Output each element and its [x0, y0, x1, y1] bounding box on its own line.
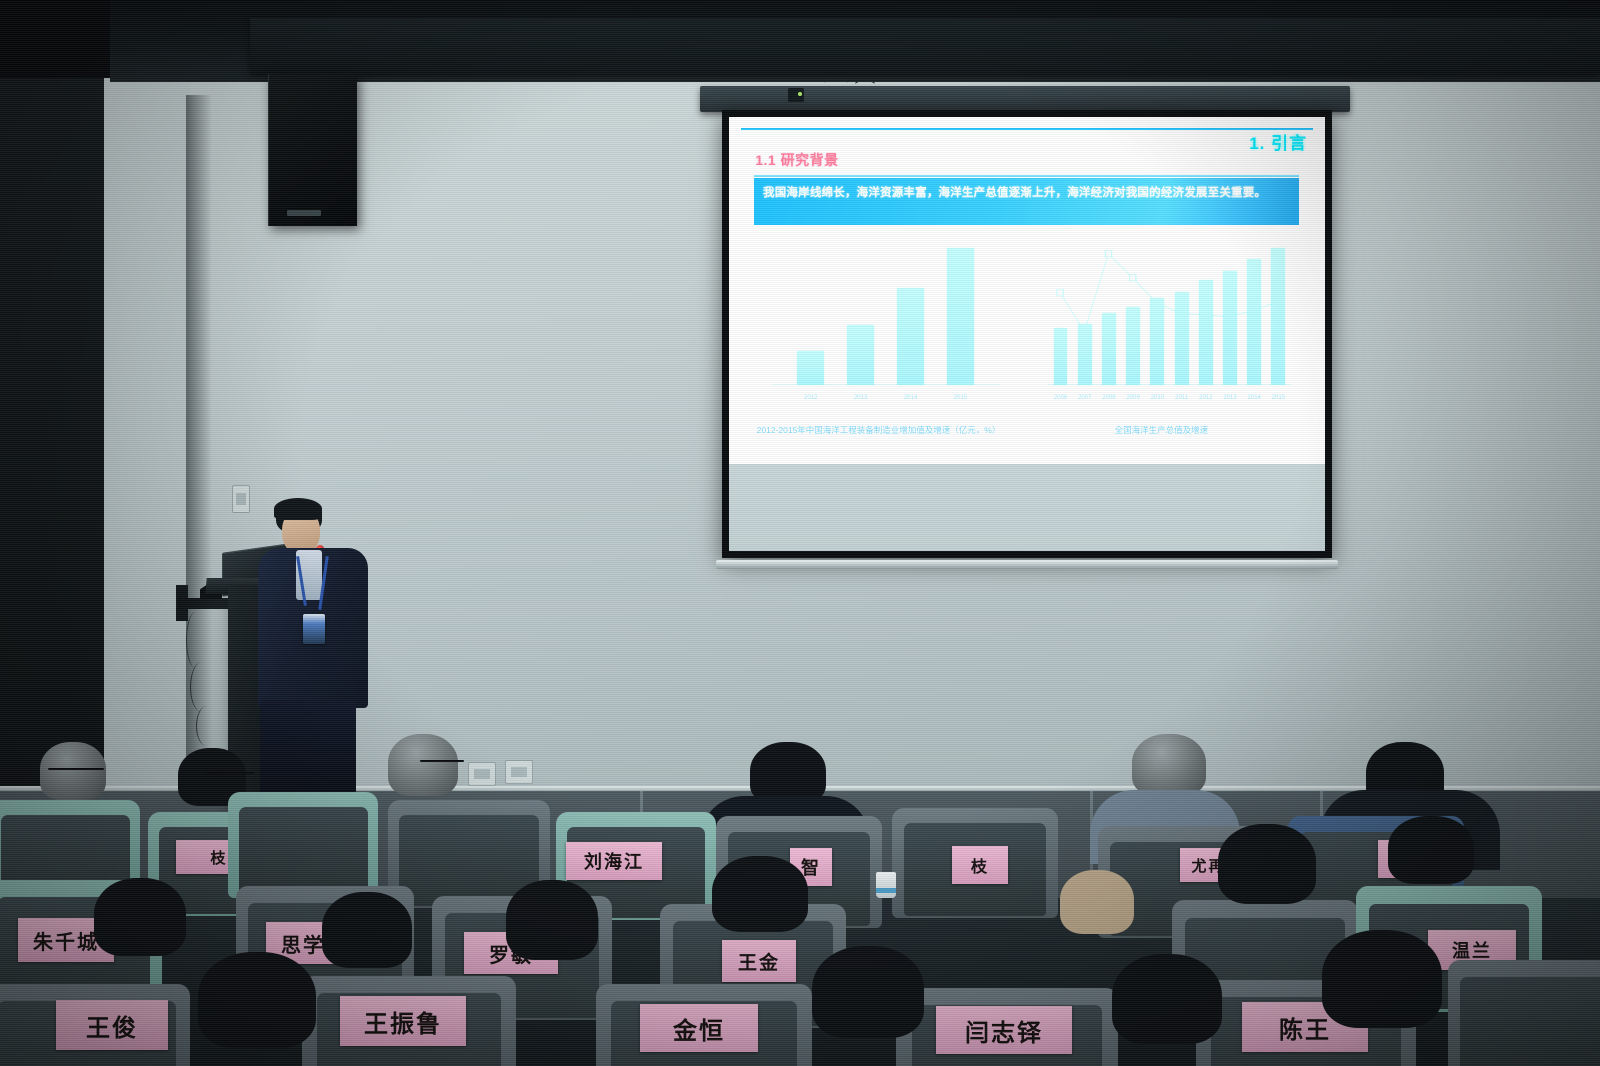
projection-screen: 1. 引言 1.1 研究背景 我国海岸线绵长，海洋资源丰富，海洋生产总值逐渐上升… [722, 110, 1332, 558]
ceiling-beam-front [250, 18, 1600, 74]
wall-speaker [268, 74, 357, 226]
bar [1078, 324, 1092, 385]
x-tick-label: 2014 [1247, 395, 1261, 401]
attendee-head [1112, 954, 1222, 1044]
seat-name-card: 王金 [722, 940, 796, 982]
x-tick-label: 2007 [1078, 395, 1092, 401]
glasses-icon [420, 760, 464, 762]
power-cable [190, 662, 213, 712]
x-tick-label: 2014 [897, 395, 924, 401]
bar [847, 325, 874, 385]
slide-subsection-title: 1.1 研究背景 [755, 150, 838, 170]
speaker-brand-icon [287, 210, 321, 216]
paper-cup [876, 872, 896, 898]
bar [1102, 313, 1116, 385]
x-tick-label: 2013 [847, 395, 874, 401]
screen-surface: 1. 引言 1.1 研究背景 我国海岸线绵长，海洋资源丰富，海洋生产总值逐渐上升… [729, 117, 1325, 551]
x-tick-label: 2011 [1175, 395, 1189, 401]
attendee-head [388, 734, 458, 796]
bar [1054, 328, 1068, 385]
presenter-hair-top [274, 498, 322, 520]
x-tick-label: 2015 [947, 395, 974, 401]
slide-subsection-rule [754, 175, 1299, 177]
attendee-head [198, 952, 316, 1048]
bar [1150, 298, 1164, 384]
left-wall-column [104, 78, 190, 813]
slide-banner-text: 我国海岸线绵长，海洋资源丰富，海洋生产总值逐渐上升，海洋经济对我国的经济发展至关… [763, 184, 1290, 203]
attendee-head [1388, 816, 1474, 884]
power-cable [186, 612, 205, 668]
left-dark-curtain [0, 60, 118, 810]
chart-left-plot: 2012201320142015 [773, 236, 1000, 385]
bar [1247, 259, 1261, 384]
seat-name-card: 金恒 [640, 1004, 758, 1052]
seat[interactable] [1448, 960, 1600, 1066]
attendee-head [812, 946, 924, 1038]
x-tick-label: 2008 [1102, 395, 1116, 401]
seat-name-card: 王俊 [56, 1000, 168, 1050]
x-tick-label: 2012 [797, 395, 824, 401]
projector-sensor-icon [788, 88, 804, 102]
lecture-hall-photo: 1. 引言 1.1 研究背景 我国海岸线绵长，海洋资源丰富，海洋生产总值逐渐上升… [0, 0, 1600, 1066]
seat[interactable] [228, 792, 378, 898]
attendee-head [1132, 734, 1206, 796]
slide-banner: 我国海岸线绵长，海洋资源丰富，海洋生产总值逐渐上升，海洋经济对我国的经济发展至关… [754, 178, 1299, 225]
x-tick-label: 2009 [1126, 395, 1140, 401]
bar [1175, 292, 1189, 384]
chart-left-caption: 2012-2015年中国海洋工程装备制造业增加值及增速（亿元，%） [752, 424, 1004, 437]
wall-switch[interactable] [232, 485, 250, 513]
bar [1271, 248, 1285, 385]
attendee-head [1218, 824, 1316, 904]
x-tick-label: 2015 [1271, 395, 1285, 401]
bar [1199, 280, 1213, 384]
chart-left: 2012201320142015 2012-2015年中国海洋工程装备制造业增加… [752, 232, 1004, 433]
attendee-head [1322, 930, 1442, 1028]
bar [797, 351, 824, 385]
attendee-head [712, 856, 808, 932]
x-tick-label: 2010 [1150, 395, 1164, 401]
slide-top-rule [741, 128, 1313, 130]
glasses-icon [206, 772, 254, 774]
bar [1223, 271, 1237, 384]
ceiling-cable [820, 78, 852, 98]
slide-charts: 2012201320142015 2012-2015年中国海洋工程装备制造业增加… [747, 232, 1307, 433]
x-tick-label: 2006 [1054, 395, 1068, 401]
wall-outlet[interactable] [505, 760, 533, 784]
attendee-head [322, 892, 412, 968]
seat-name-card: 刘海江 [566, 842, 662, 880]
presenter-badge [303, 614, 325, 644]
slide-section-title: 1. 引言 [1249, 129, 1307, 154]
bar [1126, 307, 1140, 384]
seat-name-card: 王振鲁 [340, 996, 466, 1046]
attendee-head [94, 878, 186, 956]
attendee-head [750, 742, 826, 804]
chart-right-plot: 2006200720082009201020112012201320142015 [1048, 236, 1290, 385]
seat-name-card: 枝 [952, 846, 1008, 884]
bar [897, 288, 924, 384]
attendee-head [40, 742, 106, 800]
chart-right: 2006200720082009201020112012201320142015… [1027, 232, 1296, 433]
attendee-bag [1060, 870, 1134, 934]
power-cable [196, 706, 217, 746]
attendee-head [506, 880, 598, 960]
ceiling-cable [852, 80, 878, 96]
presentation-slide: 1. 引言 1.1 研究背景 我国海岸线绵长，海洋资源丰富，海洋生产总值逐渐上升… [729, 117, 1325, 464]
chart-right-caption: 全国海洋生产总值及增速 [1027, 424, 1296, 437]
bar [947, 248, 974, 384]
x-tick-label: 2012 [1199, 395, 1213, 401]
screen-bottom-weight-bar [716, 560, 1338, 569]
wall-outlet[interactable] [468, 762, 496, 786]
seat-name-card: 闫志铎 [936, 1006, 1072, 1054]
glasses-icon [48, 768, 104, 770]
x-tick-label: 2013 [1223, 395, 1237, 401]
